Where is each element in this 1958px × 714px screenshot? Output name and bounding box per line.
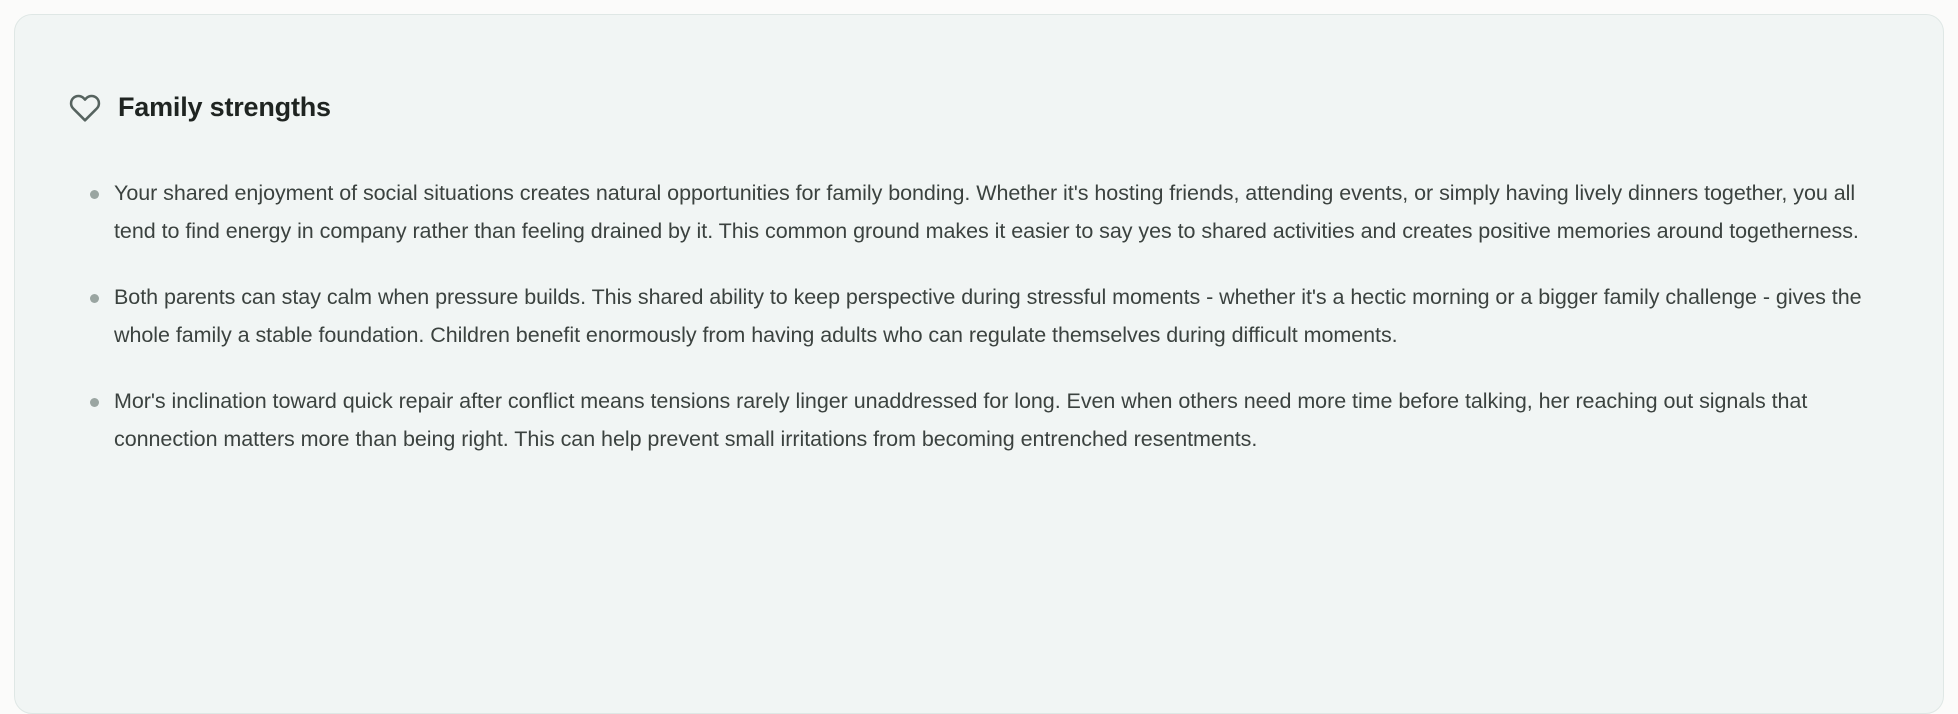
list-item: Mor's inclination toward quick repair af… xyxy=(61,382,1897,458)
page-title: Family strengths xyxy=(118,91,331,123)
bullet-dot-icon xyxy=(90,190,99,199)
list-item-text: Mor's inclination toward quick repair af… xyxy=(114,389,1807,451)
family-strengths-list: Your shared enjoyment of social situatio… xyxy=(61,174,1897,458)
family-strengths-card: Family strengths Your shared enjoyment o… xyxy=(14,14,1944,714)
heart-icon xyxy=(69,92,101,124)
list-item-text: Your shared enjoyment of social situatio… xyxy=(114,181,1859,243)
bullet-dot-icon xyxy=(90,398,99,407)
page-root: Family strengths Your shared enjoyment o… xyxy=(0,0,1958,654)
bullet-dot-icon xyxy=(90,294,99,303)
list-item: Your shared enjoyment of social situatio… xyxy=(61,174,1897,250)
card-header: Family strengths xyxy=(69,69,1897,146)
list-item: Both parents can stay calm when pressure… xyxy=(61,278,1897,354)
list-item-text: Both parents can stay calm when pressure… xyxy=(114,285,1862,347)
